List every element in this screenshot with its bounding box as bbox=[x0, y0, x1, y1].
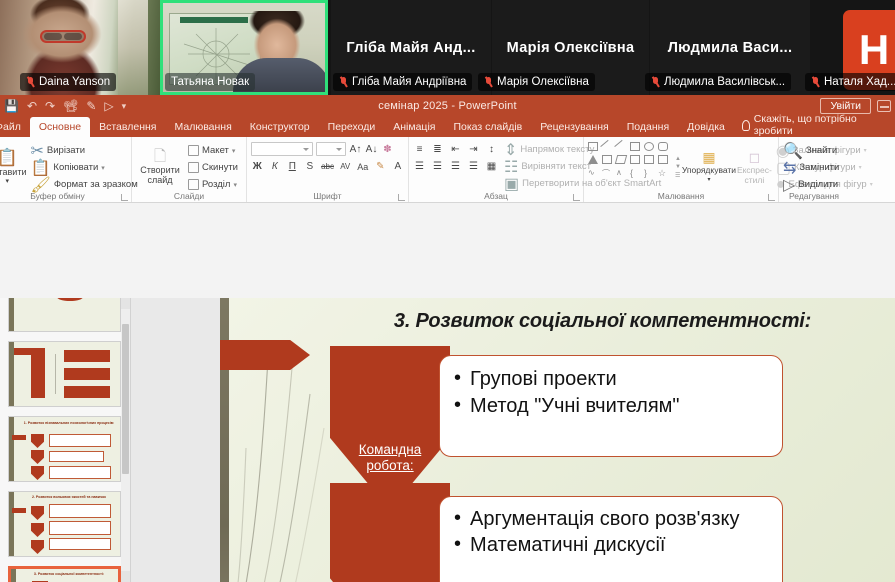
text-highlight-icon[interactable]: ✎ bbox=[374, 161, 387, 172]
reset-icon bbox=[188, 162, 199, 173]
columns-icon[interactable]: ▦ bbox=[485, 161, 498, 172]
arrange-label: Упорядкувати bbox=[682, 165, 736, 175]
shape-left-brace[interactable]: { bbox=[630, 168, 640, 177]
font-dialog-launcher[interactable] bbox=[398, 194, 405, 201]
shape-oval[interactable] bbox=[644, 142, 654, 151]
cut-button[interactable]: Вирізати bbox=[47, 145, 85, 156]
quick-styles-label: Експрес-стилі bbox=[737, 165, 772, 185]
ribbon-group-slides: 🗋 Створити слайд Макет ▾ Скинути Розділ … bbox=[132, 137, 247, 202]
callout-box bbox=[49, 451, 104, 462]
thumbnail-slide-4[interactable]: 2. Розвиток вольових якостей та навичок bbox=[8, 491, 121, 557]
ribbon-group-font: A↑ A↓ ✽ Ж К П S abc AV Aa ✎ A Шрифт bbox=[247, 137, 409, 202]
format-painter-button[interactable]: Формат за зразком bbox=[54, 179, 138, 190]
shape-pentagon[interactable] bbox=[658, 155, 668, 164]
bullet-item: Аргументація свого розв'язку bbox=[454, 507, 768, 532]
ribbon-group-editing: 🔍 Знайти ⇆ Замінити ▷ Виділити Редагуван… bbox=[779, 137, 849, 202]
nameplate-mariia-oleksiivna: Марія Олексіївна bbox=[478, 73, 595, 91]
mic-muted-icon bbox=[811, 76, 820, 88]
arrange-button[interactable]: ▦ Упорядкувати ▾ bbox=[685, 139, 733, 193]
character-spacing-button[interactable]: AV bbox=[339, 162, 352, 171]
diagram-box bbox=[64, 386, 110, 398]
powerpoint-window: 💾 ↶ ↷ 📽 ✎ ▷ ▾ семінар 2025 - PowerPoint … bbox=[0, 95, 895, 582]
chevron-shape bbox=[31, 523, 44, 537]
tab-home[interactable]: Основне bbox=[30, 117, 90, 137]
screen-root: Гліба Майя Анд... Марія Олексіївна Людми… bbox=[0, 0, 895, 582]
mic-muted-icon bbox=[26, 76, 35, 88]
thumbnail-title: 3. Розвиток соціальної компетентності: bbox=[23, 572, 115, 577]
new-slide-button[interactable]: 🗋 Створити слайд bbox=[136, 139, 184, 193]
tab-help[interactable]: Довідка bbox=[678, 117, 734, 137]
thumbnail-slide-5-selected[interactable]: 3. Розвиток соціальної компетентності: bbox=[8, 566, 121, 582]
shape-rounded-rect[interactable] bbox=[658, 142, 668, 151]
thumbnail-title: 1. Розвиток пізнавальних психологічних п… bbox=[21, 421, 117, 426]
bullet-item: Метод "Учні вчителям" bbox=[454, 393, 768, 420]
nameplate-label: Татьяна Новак bbox=[171, 76, 249, 88]
tab-animations[interactable]: Анімація bbox=[384, 117, 444, 137]
ribbon: 📋 Вставити ▾ ✂ Вирізати 📋 Копіювати ▾ 🖌 … bbox=[0, 137, 895, 203]
ribbon-group-paragraph: ≡ ≣ ⇤ ⇥ ↕ ☰ ☰ ☰ ☰ ▦ bbox=[409, 137, 584, 202]
chevron-down-icon[interactable]: ▾ bbox=[859, 164, 862, 171]
tell-me-search[interactable]: Скажіть, що потрібно зробити bbox=[734, 113, 895, 137]
chevron-shape bbox=[31, 434, 44, 448]
font-color-button[interactable]: A bbox=[392, 161, 405, 172]
bullet-item: Групові проекти bbox=[454, 366, 768, 393]
shape-curve[interactable]: ⌒ bbox=[602, 168, 612, 177]
zoom-video-strip: Гліба Майя Анд... Марія Олексіївна Людми… bbox=[0, 0, 895, 95]
callout-box bbox=[49, 538, 111, 550]
slide-side-stripe bbox=[9, 298, 14, 331]
thumbnail-slide-1[interactable] bbox=[8, 298, 121, 332]
chevron-label-line2: робота: bbox=[330, 458, 450, 474]
diagram-left-block bbox=[31, 348, 45, 398]
group-label-slides: Слайди bbox=[132, 191, 246, 201]
callout-box-2[interactable]: Аргументація свого розв'язку Математичні… bbox=[439, 496, 783, 582]
bullets-icon[interactable]: ≡ bbox=[413, 144, 426, 155]
paragraph-dialog-launcher[interactable] bbox=[573, 194, 580, 201]
shape-arc[interactable]: ∧ bbox=[616, 168, 626, 177]
tell-me-label: Скажіть, що потрібно зробити bbox=[754, 113, 895, 137]
thumbnail-slide-3[interactable]: 1. Розвиток пізнавальних психологічних п… bbox=[8, 416, 121, 482]
connector-line bbox=[55, 354, 56, 394]
chevron-down-icon[interactable]: ▾ bbox=[707, 175, 710, 185]
bullet-item: Математичні дискусії bbox=[454, 532, 768, 559]
section-button[interactable]: Розділ bbox=[202, 179, 230, 190]
italic-button[interactable]: К bbox=[269, 161, 282, 172]
clipboard-icon: 📋 bbox=[0, 148, 18, 167]
shapes-gallery-scroll[interactable]: ▲ ▼ ☰ bbox=[675, 139, 681, 193]
slide-thumbnail-pane[interactable]: 1. Розвиток пізнавальних психологічних п… bbox=[0, 298, 131, 582]
participant-name: Гліба Майя Анд... bbox=[346, 40, 475, 56]
scroll-up-arrow[interactable] bbox=[121, 298, 130, 309]
shape-down-arrow[interactable] bbox=[644, 155, 654, 164]
nameplate-tatyana-novak: Татьяна Новак bbox=[165, 73, 255, 91]
quick-styles-button[interactable]: ◻ Експрес-стилі bbox=[737, 139, 772, 193]
participant-name: Людмила Васи... bbox=[668, 40, 793, 56]
chevron-up-icon[interactable]: ▲ bbox=[675, 156, 681, 162]
thumbnail-slide-2[interactable] bbox=[8, 341, 121, 407]
avatar-initial: Н bbox=[859, 26, 889, 74]
shadow-button[interactable]: S bbox=[304, 161, 317, 172]
new-slide-label: Створити слайд bbox=[136, 165, 184, 185]
diagram-oval bbox=[57, 298, 83, 301]
slide-tag-arrow bbox=[12, 508, 26, 513]
mic-muted-icon bbox=[651, 76, 660, 88]
slide-canvas-area: 3. Розвиток соціальної компетентності: К… bbox=[131, 298, 895, 582]
group-label-font: Шрифт bbox=[247, 191, 408, 201]
arrange-icon: ▦ bbox=[702, 150, 715, 165]
ribbon-group-drawing: ∿ ⌒ ∧ { } ☆ ▲ ▼ ☰ ▦ Упорядкувати bbox=[584, 137, 779, 202]
group-label-editing: Редагування bbox=[779, 191, 849, 201]
group-label-clipboard: Буфер обміну bbox=[0, 191, 131, 201]
layout-button[interactable]: Макет bbox=[202, 145, 229, 156]
diagram-box bbox=[64, 350, 110, 362]
tab-design[interactable]: Конструктор bbox=[241, 117, 319, 137]
align-center-icon[interactable]: ☰ bbox=[431, 161, 444, 172]
more-shapes-icon[interactable]: ☰ bbox=[675, 172, 681, 179]
line-spacing-icon[interactable]: ↕ bbox=[485, 144, 498, 155]
increase-indent-icon[interactable]: ⇥ bbox=[467, 144, 480, 155]
lightbulb-icon bbox=[742, 120, 750, 131]
slide-side-stripe bbox=[9, 417, 14, 481]
scroll-down-arrow[interactable] bbox=[121, 571, 130, 582]
slide-side-stripe bbox=[9, 492, 14, 556]
mic-muted-icon bbox=[339, 76, 348, 88]
shape-triangle[interactable] bbox=[588, 155, 598, 164]
shape-right-triangle[interactable] bbox=[602, 155, 612, 164]
mic-muted-icon bbox=[484, 76, 493, 88]
participant-name: Марія Олексіївна bbox=[507, 40, 635, 56]
paste-label: Вставити bbox=[0, 167, 27, 177]
chevron-shape bbox=[31, 450, 44, 464]
tab-review[interactable]: Рецензування bbox=[531, 117, 617, 137]
select-button[interactable]: Виділити bbox=[798, 179, 838, 190]
tab-slideshow[interactable]: Показ слайдів bbox=[444, 117, 531, 137]
slide-tag-arrow bbox=[12, 435, 26, 440]
shape-freeform[interactable]: ∿ bbox=[588, 168, 598, 177]
participant-face-glasses bbox=[40, 30, 86, 43]
nameplate-label: Daina Yanson bbox=[39, 76, 110, 88]
chevron-down-icon[interactable]: ▾ bbox=[101, 164, 105, 172]
chevron-shape bbox=[31, 466, 44, 480]
bullet-list-1: Групові проекти Метод "Учні вчителям" bbox=[454, 366, 768, 420]
sign-in-button[interactable]: Увійти bbox=[820, 98, 871, 114]
chevron-down-icon[interactable]: ▾ bbox=[233, 181, 237, 189]
ribbon-group-clipboard: 📋 Вставити ▾ ✂ Вирізати 📋 Копіювати ▾ 🖌 … bbox=[0, 137, 132, 202]
copy-button[interactable]: Копіювати bbox=[53, 162, 98, 173]
callout-box-1[interactable]: Групові проекти Метод "Учні вчителям" bbox=[439, 355, 783, 457]
align-text-button[interactable]: Вирівняти текст bbox=[521, 161, 591, 172]
justify-icon[interactable]: ☰ bbox=[467, 161, 480, 172]
chevron-shape-2[interactable]: Комунікація: bbox=[330, 483, 450, 582]
numbering-icon[interactable]: ≣ bbox=[431, 144, 444, 155]
window-title: семінар 2025 - PowerPoint bbox=[0, 100, 895, 112]
group-label-paragraph: Абзац bbox=[409, 191, 583, 201]
shape-block-arrow[interactable] bbox=[630, 155, 640, 164]
diagram-box bbox=[64, 368, 110, 380]
underline-button[interactable]: П bbox=[286, 161, 299, 172]
current-slide[interactable]: 3. Розвиток соціальної компетентності: К… bbox=[220, 298, 895, 582]
nameplate-label: Людмила Василівськ... bbox=[664, 76, 785, 88]
nameplate-daina-yanson: Daina Yanson bbox=[20, 73, 116, 91]
scrollbar-thumb[interactable] bbox=[122, 324, 129, 474]
nameplate-liudmyla-vasylivska: Людмила Василівськ... bbox=[645, 73, 791, 91]
nameplate-hliba-maiia: Гліба Майя Андріївна bbox=[333, 73, 472, 91]
align-right-icon[interactable]: ☰ bbox=[449, 161, 462, 172]
shape-rectangle[interactable] bbox=[630, 142, 640, 151]
shape-right-brace[interactable]: } bbox=[644, 168, 654, 177]
tab-transitions[interactable]: Переходи bbox=[319, 117, 385, 137]
ribbon-tab-bar: Файл Основне Вставлення Малювання Констр… bbox=[0, 117, 895, 137]
callout-box bbox=[49, 466, 111, 479]
clear-formatting-icon[interactable]: ✽ bbox=[381, 144, 394, 155]
chevron-down-icon[interactable]: ▾ bbox=[232, 147, 236, 155]
tab-file[interactable]: Файл bbox=[0, 117, 30, 137]
chevron-down-icon[interactable]: ▼ bbox=[675, 164, 681, 170]
nameplate-label: Гліба Майя Андріївна bbox=[352, 76, 466, 88]
nameplate-natalia-khad: Наталя Хад... bbox=[805, 73, 895, 91]
section-icon bbox=[188, 179, 199, 190]
replace-button[interactable]: Замінити bbox=[799, 162, 839, 173]
callout-box bbox=[49, 434, 111, 447]
shape-parallelogram[interactable] bbox=[615, 155, 627, 164]
bullet-list-2: Аргументація свого розв'язку Математичні… bbox=[454, 507, 768, 559]
drawing-dialog-launcher[interactable] bbox=[768, 194, 775, 201]
reset-button[interactable]: Скинути bbox=[202, 162, 238, 173]
shape-line[interactable] bbox=[600, 140, 613, 153]
font-size-input[interactable] bbox=[316, 142, 346, 156]
decrease-indent-icon[interactable]: ⇤ bbox=[449, 144, 462, 155]
shape-arrow[interactable] bbox=[614, 140, 627, 153]
layout-icon bbox=[188, 145, 199, 156]
tab-view[interactable]: Подання bbox=[618, 117, 678, 137]
callout-box bbox=[49, 521, 111, 535]
new-slide-icon: 🗋 bbox=[154, 149, 166, 165]
shape-star[interactable]: ☆ bbox=[658, 168, 668, 177]
chevron-down-icon[interactable]: ▾ bbox=[870, 181, 873, 188]
clipboard-dialog-launcher[interactable] bbox=[121, 194, 128, 201]
slide-side-stripe bbox=[11, 569, 16, 582]
increase-font-size-icon[interactable]: A↑ bbox=[349, 144, 362, 155]
decrease-font-size-icon[interactable]: A↓ bbox=[365, 144, 378, 155]
bold-button[interactable]: Ж bbox=[251, 161, 264, 172]
slide-tag-arrow[interactable] bbox=[220, 340, 310, 370]
callout-box bbox=[49, 504, 111, 518]
chevron-label-line1: Командна bbox=[330, 442, 450, 458]
shapes-gallery[interactable]: ∿ ⌒ ∧ { } ☆ bbox=[588, 142, 671, 193]
nameplate-label: Марія Олексіївна bbox=[497, 76, 589, 88]
strikethrough-button[interactable]: abc bbox=[321, 162, 334, 171]
ribbon-display-options-icon[interactable] bbox=[877, 100, 891, 112]
chevron-down-icon[interactable]: ▾ bbox=[864, 147, 867, 154]
nameplate-label: Наталя Хад... bbox=[824, 76, 895, 88]
slide-title[interactable]: 3. Розвиток соціальної компетентності: bbox=[330, 310, 875, 333]
thumbnail-scrollbar[interactable] bbox=[121, 298, 130, 582]
group-label-drawing: Малювання bbox=[584, 191, 778, 201]
chevron-shape bbox=[31, 540, 44, 554]
thumbnail-title: 2. Розвиток вольових якостей та навичок bbox=[21, 495, 117, 500]
chevron-down-icon[interactable]: ▾ bbox=[5, 177, 9, 187]
tab-draw[interactable]: Малювання bbox=[165, 117, 240, 137]
chevron-shape bbox=[31, 506, 44, 520]
paste-button[interactable]: 📋 Вставити ▾ bbox=[0, 139, 27, 193]
quick-styles-icon: ◻ bbox=[749, 150, 761, 165]
font-name-input[interactable] bbox=[251, 142, 313, 156]
align-left-icon[interactable]: ☰ bbox=[413, 161, 426, 172]
change-case-button[interactable]: Aa bbox=[356, 162, 369, 172]
find-button[interactable]: Знайти bbox=[806, 145, 837, 156]
tab-insert[interactable]: Вставлення bbox=[90, 117, 165, 137]
workspace: 1. Розвиток пізнавальних психологічних п… bbox=[0, 298, 895, 582]
shape-textbox[interactable] bbox=[588, 142, 598, 151]
titlebar-right-controls: Увійти bbox=[820, 98, 891, 114]
